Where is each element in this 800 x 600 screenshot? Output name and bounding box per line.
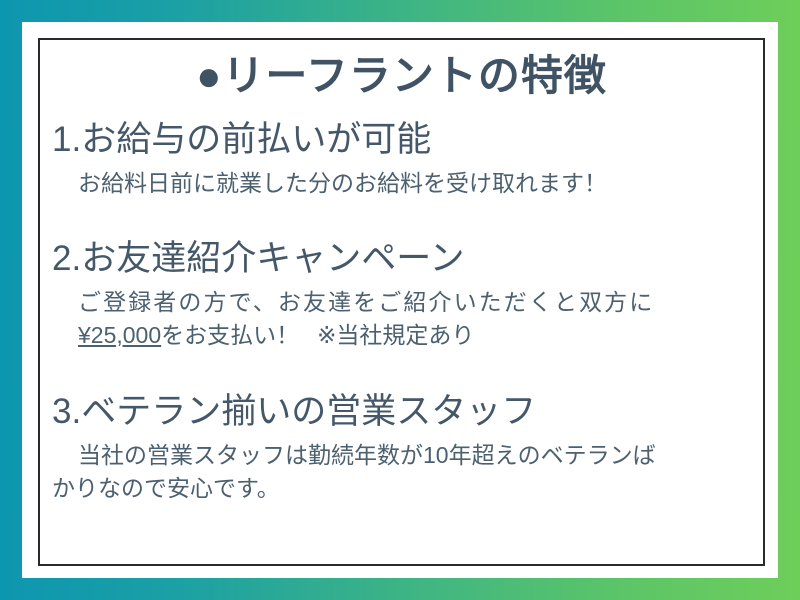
feature-body-3-line-2: かりなので安心です。 <box>52 472 755 505</box>
feature-item-3: 3.ベテラン揃いの営業スタッフ 当社の営業スタッフは勤続年数が10年超えのベテラ… <box>38 391 765 506</box>
referral-note: ※当社規定あり <box>317 322 474 348</box>
feature-heading-2: 2.お友達紹介キャンペーン <box>52 238 755 280</box>
feature-body-2: ご登録者の方で、お友達をご紹介いただくと双方に ¥25,000をお支払い！※当社… <box>52 286 755 353</box>
feature-body-1: お給料日前に就業した分のお給料を受け取れます！ <box>52 167 755 200</box>
feature-body-2-line-2: ¥25,000をお支払い！※当社規定あり <box>78 319 755 352</box>
feature-list: 1.お給与の前払いが可能 お給料日前に就業した分のお給料を受け取れます！ 2.お… <box>38 119 765 506</box>
feature-body-2-line-1: ご登録者の方で、お友達をご紹介いただくと双方に <box>78 286 755 319</box>
feature-heading-3: 3.ベテラン揃いの営業スタッフ <box>52 391 755 433</box>
slide-content: ●リーフラントの特徴 1.お給与の前払いが可能 お給料日前に就業した分のお給料を… <box>38 38 765 566</box>
feature-body-1-line-1: お給料日前に就業した分のお給料を受け取れます！ <box>78 167 755 200</box>
feature-heading-1: 1.お給与の前払いが可能 <box>52 119 755 161</box>
referral-amount-suffix: をお支払い！ <box>161 322 299 348</box>
feature-body-3-line-1: 当社の営業スタッフは勤続年数が10年超えのベテランば <box>78 439 755 472</box>
referral-amount: ¥25,000 <box>78 322 161 348</box>
feature-body-3: 当社の営業スタッフは勤続年数が10年超えのベテランば かりなので安心です。 <box>52 439 755 506</box>
feature-item-2: 2.お友達紹介キャンペーン ご登録者の方で、お友達をご紹介いただくと双方に ¥2… <box>38 238 765 353</box>
slide-canvas: ●リーフラントの特徴 1.お給与の前払いが可能 お給料日前に就業した分のお給料を… <box>0 0 800 600</box>
page-title: ●リーフラントの特徴 <box>38 38 765 103</box>
feature-item-1: 1.お給与の前払いが可能 お給料日前に就業した分のお給料を受け取れます！ <box>38 119 765 200</box>
